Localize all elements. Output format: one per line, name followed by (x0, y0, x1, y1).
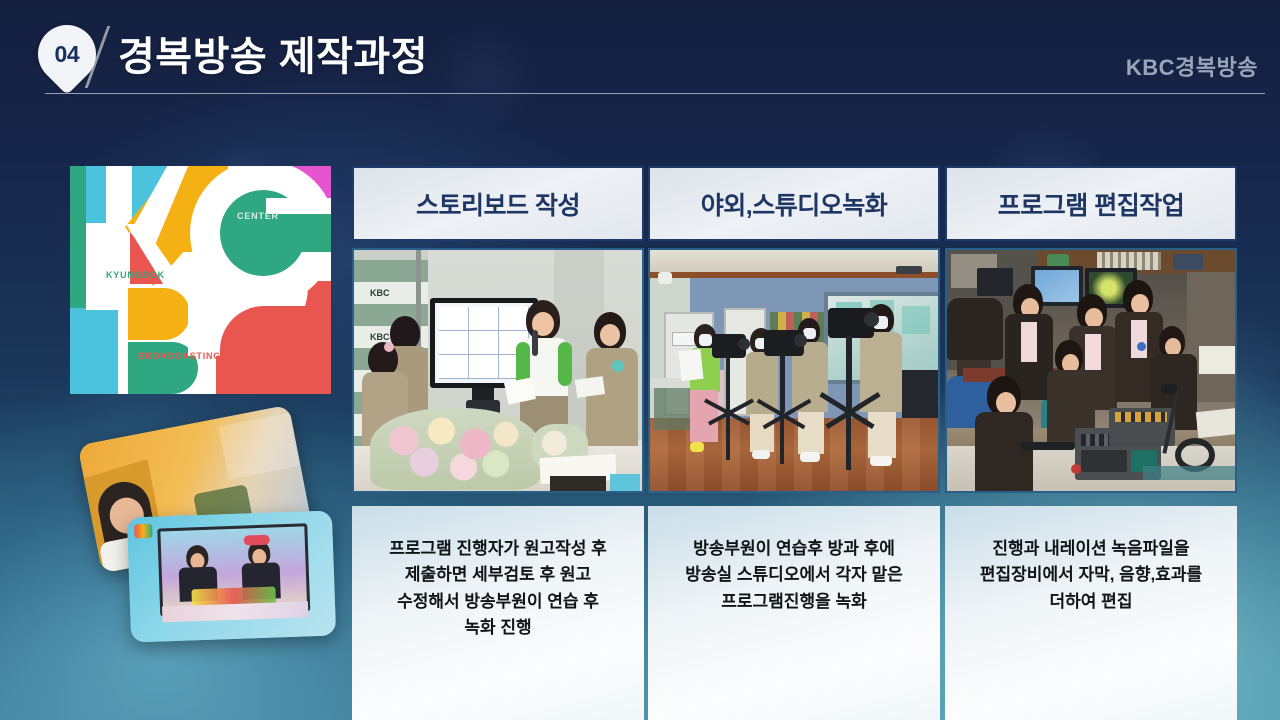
process-column-recording: 야외,스튜디오녹화 (648, 166, 940, 241)
section-number-badge: 04 (26, 13, 108, 95)
column-caption-storyboard: 프로그램 진행자가 원고작성 후 제출하면 세부검토 후 원고 수정해서 방송부… (352, 506, 644, 720)
slide-header: 04 경복방송 제작과정 KBC경복방송 (0, 0, 1280, 100)
editing-scene (947, 250, 1235, 491)
header-divider (45, 93, 1265, 94)
wall-sign-kbc: KBC (370, 288, 390, 298)
process-column-storyboard: 스토리보드 작성 KBC KBC KBC (352, 166, 644, 241)
process-column-editing: 프로그램 편집작업 (945, 166, 1237, 241)
logo-block-teal-left (70, 166, 86, 308)
column-photo-storyboard: KBC KBC KBC (352, 248, 644, 493)
column-caption-recording: 방송부원이 연습후 방과 후에 방송실 스튜디오에서 각자 맡은 프로그램진행을… (648, 506, 940, 720)
logo-arc-red-cut (220, 306, 331, 394)
column-header-text: 스토리보드 작성 (416, 186, 580, 222)
logo-label-center: CENTER (237, 211, 279, 221)
column-header-text: 야외,스튜디오녹화 (701, 186, 887, 222)
logo-label-broadcasting: BROADCASTING (138, 351, 221, 361)
storyboard-scene: KBC KBC KBC (354, 250, 642, 491)
column-caption-editing: 진행과 내레이션 녹음파일을 편집장비에서 자막, 음향,효과를 더하여 편집 (945, 506, 1237, 720)
logo-label-kyungbok: KYUNGBOK (106, 270, 165, 280)
column-photo-editing (945, 248, 1237, 493)
side-photo-card-bottom (127, 510, 336, 642)
column-header-text: 프로그램 편집작업 (998, 186, 1184, 222)
page-title: 경복방송 제작과정 (118, 24, 428, 82)
column-photo-recording (648, 248, 940, 493)
column-header-storyboard: 스토리보드 작성 (352, 166, 644, 241)
logo-letter-b-bowl-top (126, 288, 190, 340)
kbc-watermark (134, 524, 152, 539)
column-header-editing: 프로그램 편집작업 (945, 166, 1237, 241)
caption-text: 프로그램 진행자가 원고작성 후 제출하면 세부검토 후 원고 수정해서 방송부… (368, 536, 628, 641)
kbc-logo-panel: KYUNGBOK CENTER BROADCASTING (70, 166, 331, 394)
slide-canvas: 04 경복방송 제작과정 KBC경복방송 (0, 0, 1280, 720)
column-header-recording: 야외,스튜디오녹화 (648, 166, 940, 241)
wall-sign-kbc: KBC (370, 332, 390, 342)
microphone (532, 330, 538, 356)
recording-scene (650, 250, 938, 491)
caption-text: 진행과 내레이션 녹음파일을 편집장비에서 자막, 음향,효과를 더하여 편집 (961, 536, 1221, 615)
side-photo-bottom-scene (127, 510, 336, 642)
section-number: 04 (55, 41, 80, 68)
brand-label: KBC경복방송 (1126, 50, 1258, 82)
caption-text: 방송부원이 연습후 방과 후에 방송실 스튜디오에서 각자 맡은 프로그램진행을… (664, 536, 924, 615)
logo-block-cyan-bottomleft (70, 308, 122, 394)
logo-letter-b-white-outline-top (118, 280, 128, 394)
